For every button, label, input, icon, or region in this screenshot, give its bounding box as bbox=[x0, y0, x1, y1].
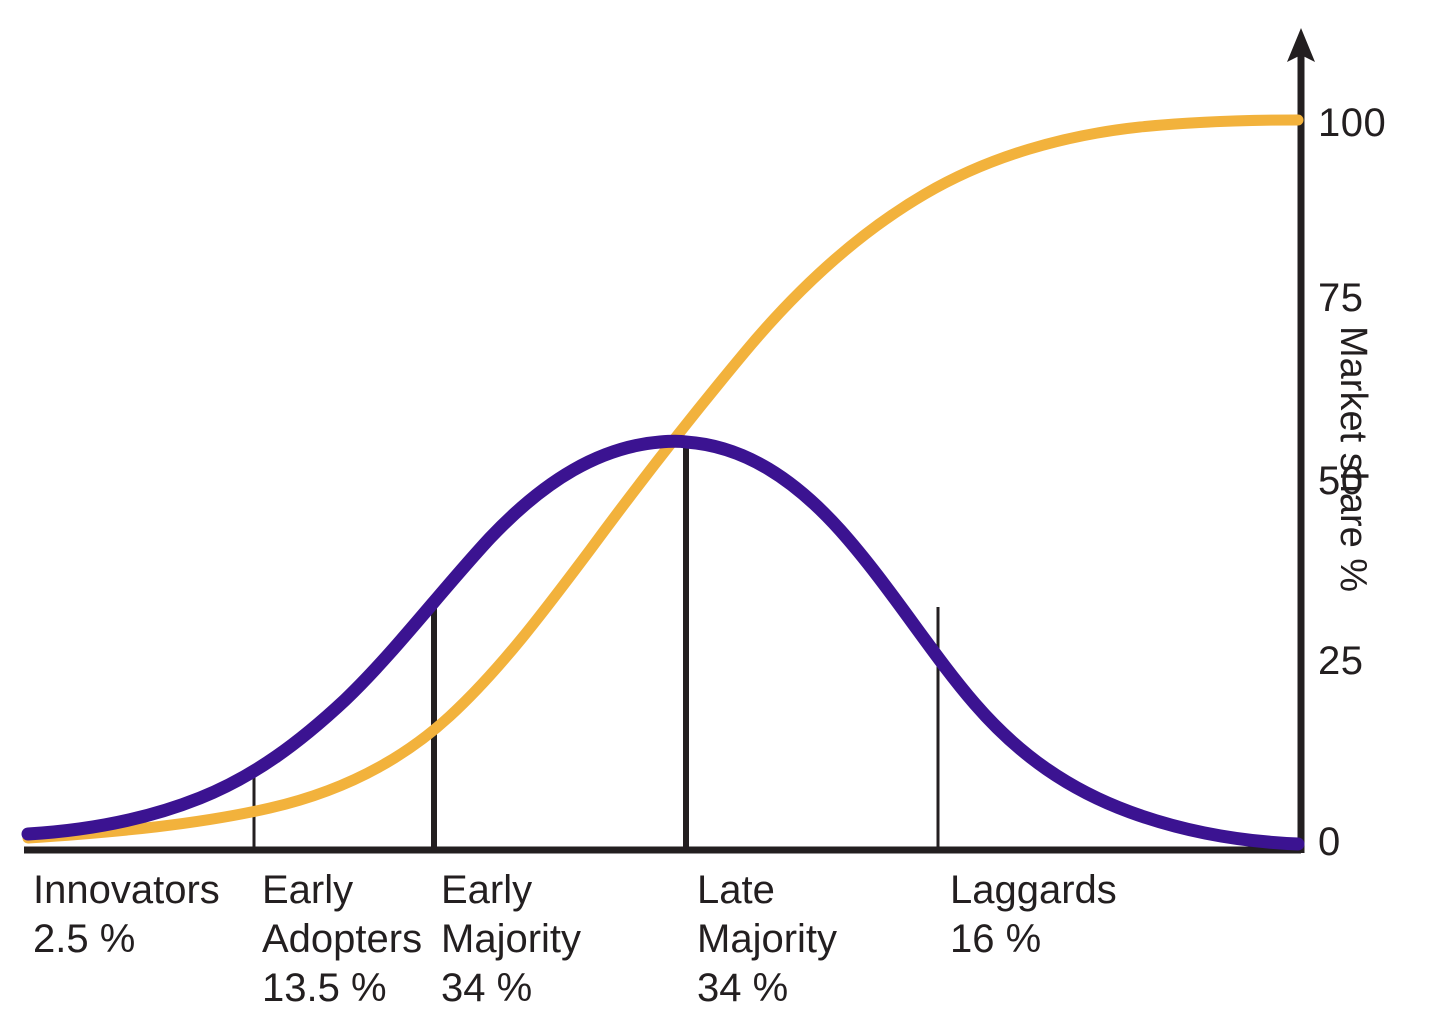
y-tick-label-0: 0 bbox=[1318, 822, 1341, 862]
category-name-laggards: Laggards bbox=[950, 866, 1117, 915]
category-percent-late-majority: 34 % bbox=[697, 964, 837, 1013]
category-percent-early-adopters: 13.5 % bbox=[262, 964, 422, 1013]
category-label-early-majority: Early Majority 34 % bbox=[441, 866, 581, 1013]
category-name-early-adopters-line2: Adopters bbox=[262, 915, 422, 964]
bell-curve-adopter-distribution bbox=[28, 441, 1298, 844]
category-name-late-majority-line1: Late bbox=[697, 866, 837, 915]
category-name-early-majority-line2: Majority bbox=[441, 915, 581, 964]
category-label-row: Innovators 2.5 % Early Adopters 13.5 % E… bbox=[0, 866, 1440, 1024]
category-percent-innovators: 2.5 % bbox=[33, 915, 220, 964]
y-tick-label-100: 100 bbox=[1318, 103, 1386, 143]
y-tick-label-75: 75 bbox=[1318, 278, 1364, 318]
category-name-innovators: Innovators bbox=[33, 866, 220, 915]
category-label-innovators: Innovators 2.5 % bbox=[33, 866, 220, 964]
category-label-laggards: Laggards 16 % bbox=[950, 866, 1117, 964]
category-percent-laggards: 16 % bbox=[950, 915, 1117, 964]
category-name-early-adopters-line1: Early bbox=[262, 866, 422, 915]
s-curve-cumulative-adoption bbox=[28, 120, 1298, 838]
diffusion-of-innovation-chart: 100 75 50 25 0 Market share % Innovators… bbox=[0, 0, 1440, 1024]
y-axis-title: Market share % bbox=[1334, 326, 1372, 656]
category-label-late-majority: Late Majority 34 % bbox=[697, 866, 837, 1013]
category-label-early-adopters: Early Adopters 13.5 % bbox=[262, 866, 422, 1013]
category-percent-early-majority: 34 % bbox=[441, 964, 581, 1013]
category-name-early-majority-line1: Early bbox=[441, 866, 581, 915]
category-name-late-majority-line2: Majority bbox=[697, 915, 837, 964]
